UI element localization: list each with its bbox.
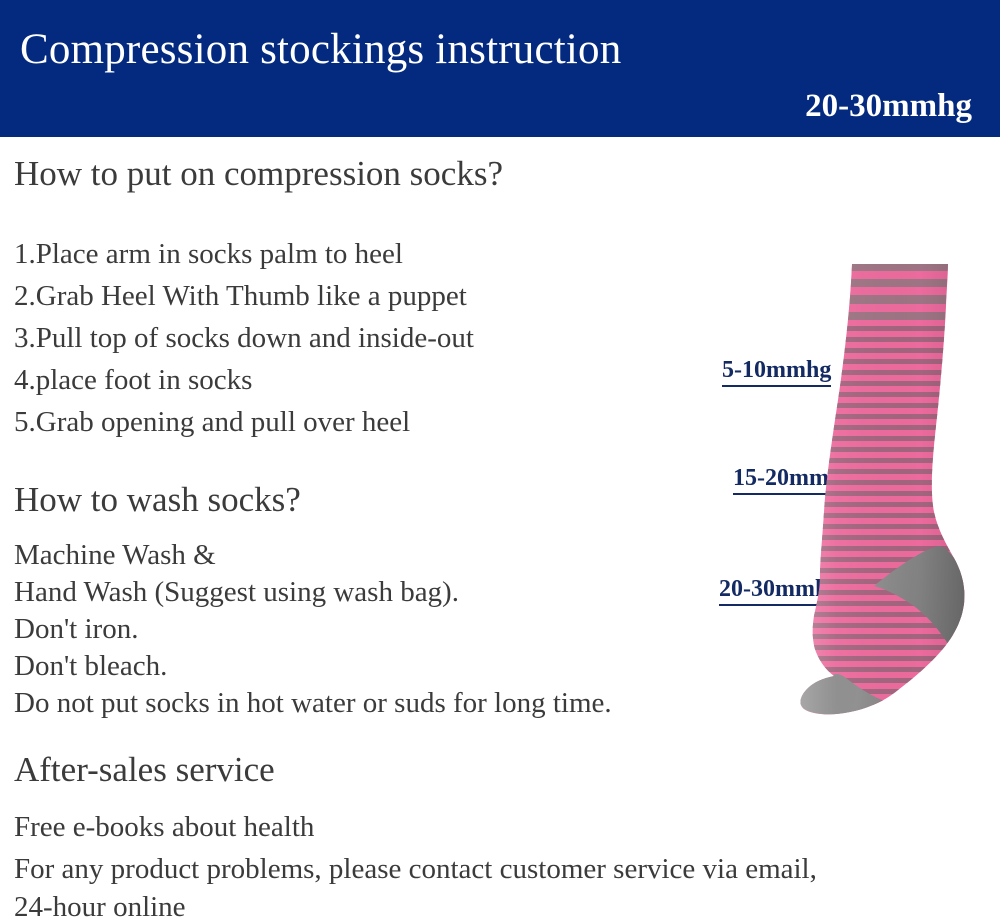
sock-body (790, 250, 1000, 730)
section-heading-after-sales: After-sales service (14, 752, 275, 789)
section-heading-put-on: How to put on compression socks? (14, 156, 503, 193)
put-on-step-1: 1.Place arm in socks palm to heel (14, 239, 403, 269)
wash-line-3: Don't iron. (14, 614, 138, 644)
wash-line-1: Machine Wash & (14, 540, 216, 570)
wash-line-2: Hand Wash (Suggest using wash bag). (14, 577, 459, 607)
compression-sock-illustration (790, 250, 1000, 730)
put-on-step-5: 5.Grab opening and pull over heel (14, 407, 410, 437)
after-sales-line-2: For any product problems, please contact… (14, 854, 817, 884)
section-heading-wash: How to wash socks? (14, 482, 301, 519)
put-on-step-4: 4.place foot in socks (14, 365, 252, 395)
wash-line-4: Don't bleach. (14, 651, 167, 681)
put-on-step-3: 3.Pull top of socks down and inside-out (14, 323, 474, 353)
page-title: Compression stockings instruction (20, 27, 621, 72)
put-on-step-2: 2.Grab Heel With Thumb like a puppet (14, 281, 467, 311)
header-pressure-rating: 20-30mmhg (805, 88, 972, 125)
instruction-content: How to put on compression socks? 1.Place… (0, 137, 740, 923)
header-banner: Compression stockings instruction 20-30m… (0, 0, 1000, 137)
after-sales-line-1: Free e-books about health (14, 812, 314, 842)
after-sales-line-3: 24-hour online (14, 892, 186, 922)
wash-line-5: Do not put socks in hot water or suds fo… (14, 688, 612, 718)
